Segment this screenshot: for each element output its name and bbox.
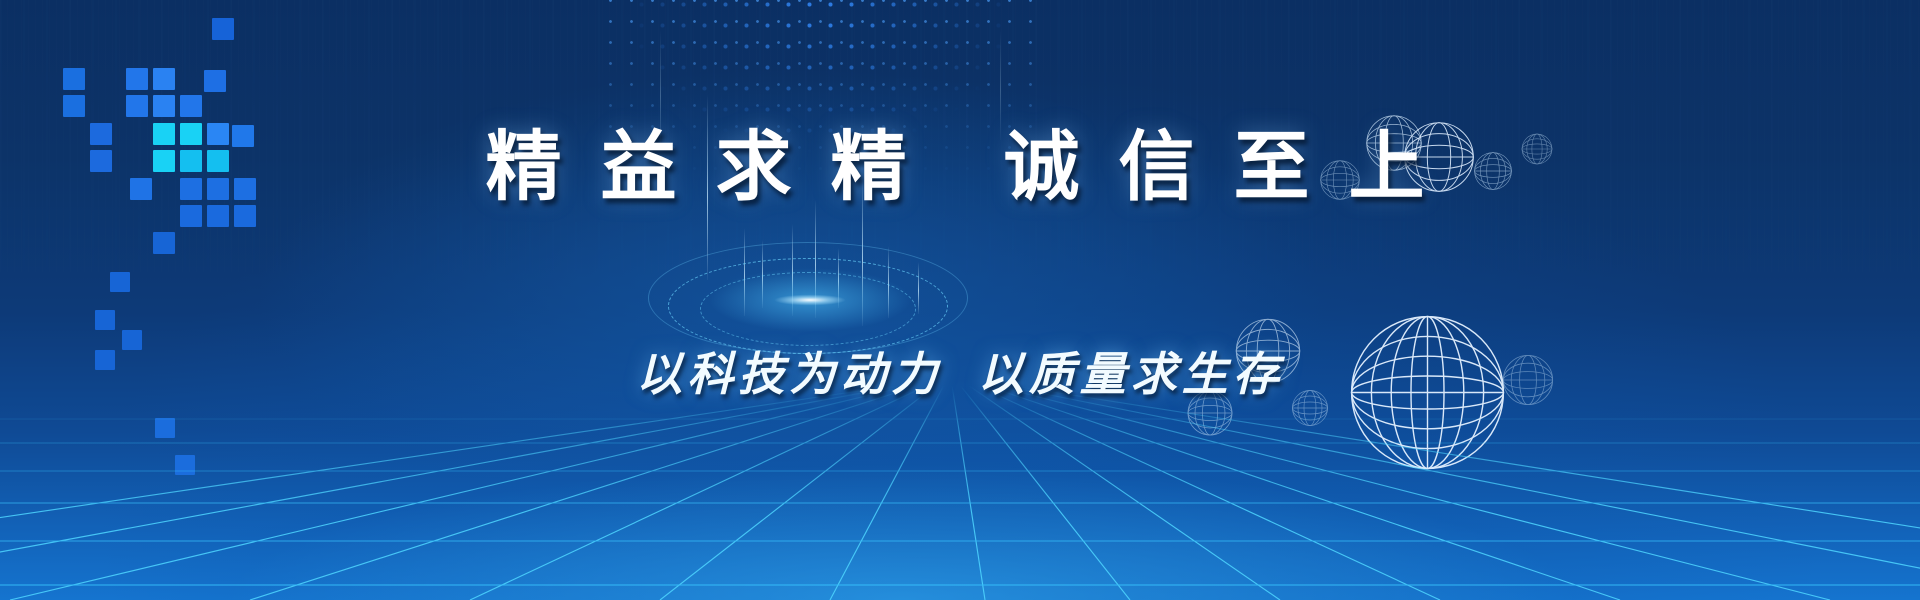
page-title: 精 益 求 精 诚 信 至 上 (0, 105, 1920, 215)
pixel-square (110, 272, 130, 292)
pixel-square (212, 18, 234, 40)
hero-banner: 精 益 求 精 诚 信 至 上 以科技为动力 以质量求生存 (0, 0, 1920, 600)
pixel-square (63, 68, 85, 90)
pixel-square (153, 68, 175, 90)
pixel-square (126, 68, 148, 90)
pixel-square (204, 70, 226, 92)
perspective-grid-floor (0, 385, 1920, 600)
pixel-square (153, 232, 175, 254)
pixel-square (95, 310, 115, 330)
page-subtitle: 以科技为动力 以质量求生存 (0, 338, 1920, 404)
